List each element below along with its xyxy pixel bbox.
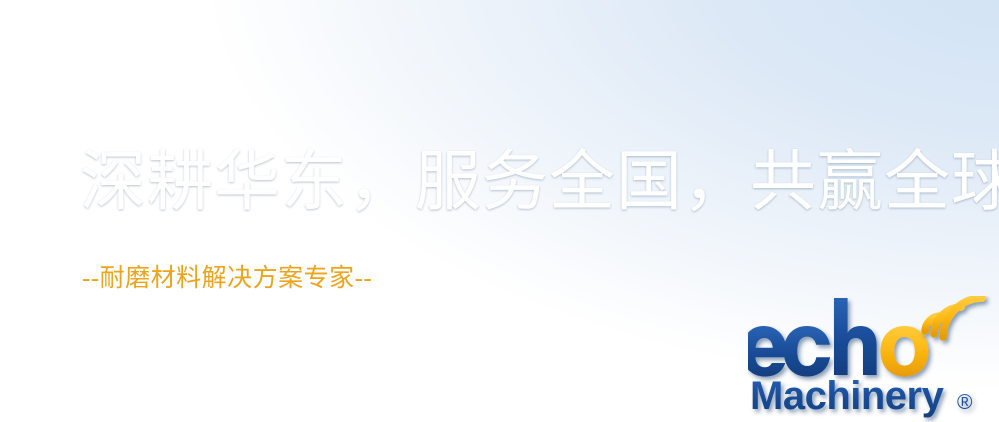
logo-tagline-text: Machinery [750,374,945,418]
brand-logo[interactable]: echo Machinery [748,296,999,422]
logo-letter-o [881,326,929,377]
page-title: 深耕华东，服务全国，共赢全球 [80,148,999,218]
page-subtitle: --耐磨材料解决方案专家-- [82,265,372,293]
logo-tagline: Machinery ® [750,374,973,418]
logo-letter-c [784,326,830,377]
logo-letter-e [748,326,787,377]
signal-arcs-icon [925,298,982,337]
logo-letter-h [834,298,877,375]
logo-graphic: Machinery ® [748,296,999,422]
logo-wordmark-echo [748,298,929,377]
hero-banner: 深耕华东，服务全国，共赢全球 --耐磨材料解决方案专家-- echo Machi… [0,0,999,422]
registered-trademark-icon: ® [957,391,973,414]
